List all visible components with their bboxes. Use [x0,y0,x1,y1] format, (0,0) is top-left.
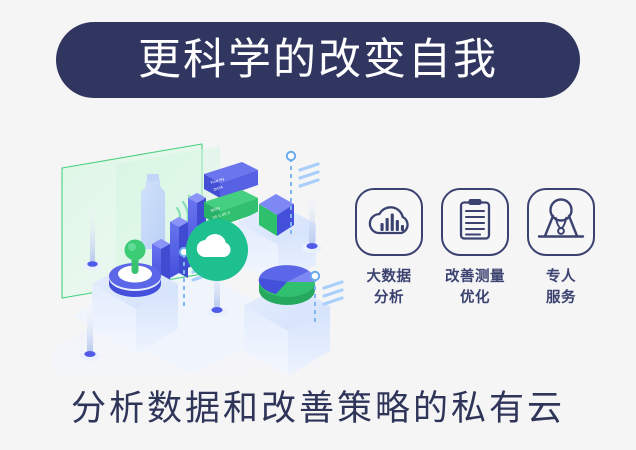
clipboard-icon [456,197,494,247]
feature-item-service[interactable]: 专人 服务 [524,188,598,308]
title-banner: 更科学的改变自我 [56,22,580,98]
cloud-badge [186,219,248,281]
feature-icon-box [355,188,423,256]
feature-icon-box [527,188,595,256]
footer-tagline: 分析数据和改善策略的私有云 [0,381,636,437]
feature-label: 大数据 分析 [367,267,412,308]
feature-label-line1: 专人 [546,267,576,288]
feature-label-line2: 优化 [445,288,505,309]
feature-label-line2: 分析 [367,288,412,309]
feature-item-big-data[interactable]: 大数据 分析 [352,188,426,308]
feature-list: 大数据 分析 [352,188,598,334]
feature-label: 专人 服务 [546,267,576,308]
page-title: 更科学的改变自我 [138,39,498,82]
cloud-bar-chart-icon [366,200,412,244]
feature-label-line1: 改善测量 [445,267,505,288]
feature-label-line1: 大数据 [367,267,412,288]
feature-label-line2: 服务 [546,288,576,309]
feature-icon-box [441,188,509,256]
feature-item-measurement[interactable]: 改善测量 优化 [438,188,512,308]
tagline-text: 分析数据和改善策略的私有云 [71,392,565,427]
person-service-icon [536,196,586,248]
isometric-illustration: Find My DATA DATA 00.0.00.0 [44,126,354,376]
poster-canvas: 更科学的改变自我 [0,0,636,450]
feature-label: 改善测量 优化 [445,267,505,308]
